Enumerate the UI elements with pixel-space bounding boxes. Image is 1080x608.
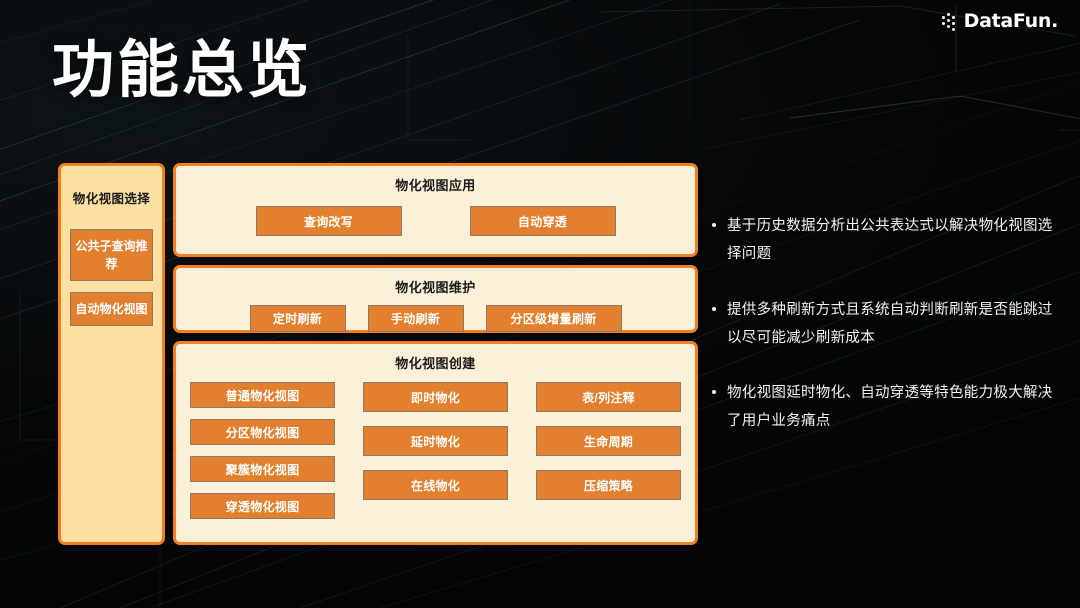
button-online-materialization[interactable]: 在线物化 — [363, 470, 508, 500]
slide-canvas: DataFun. 功能总览 物化视图选择 公共子查询推荐 自动物化视图 物化视图… — [0, 0, 1080, 608]
bullet-dot-icon — [712, 223, 716, 227]
button-auto-passthrough[interactable]: 自动穿透 — [470, 206, 616, 236]
bullet-text: 提供多种刷新方式且系统自动判断刷新是否能跳过以尽可能减少刷新成本 — [727, 296, 1060, 353]
button-compression-strategy[interactable]: 压缩策略 — [536, 470, 681, 500]
key-points-list: 基于历史数据分析出公共表达式以解决物化视图选择问题 提供多种刷新方式且系统自动判… — [712, 212, 1060, 436]
button-query-rewrite[interactable]: 查询改写 — [256, 206, 402, 236]
list-item: 基于历史数据分析出公共表达式以解决物化视图选择问题 — [712, 212, 1060, 269]
bullet-text: 物化视图延时物化、自动穿透等特色能力极大解决了用户业务痛点 — [727, 379, 1060, 436]
panel-materialized-view-creation: 物化视图创建 普通物化视图 分区物化视图 聚簇物化视图 穿透物化视图 即时物化 … — [173, 341, 698, 545]
list-item: 物化视图延时物化、自动穿透等特色能力极大解决了用户业务痛点 — [712, 379, 1060, 436]
button-table-column-comment[interactable]: 表/列注释 — [536, 382, 681, 412]
creation-column-metadata-options: 表/列注释 生命周期 压缩策略 — [536, 382, 681, 519]
button-passthrough-mv[interactable]: 穿透物化视图 — [190, 493, 335, 519]
maintenance-button-row: 定时刷新 手动刷新 分区级增量刷新 — [176, 305, 695, 332]
bullet-dot-icon — [712, 390, 716, 394]
feature-overview-diagram: 物化视图选择 公共子查询推荐 自动物化视图 物化视图应用 查询改写 自动穿透 物… — [58, 163, 698, 545]
bullet-dot-icon — [712, 307, 716, 311]
panel-title-creation: 物化视图创建 — [176, 344, 695, 372]
button-normal-mv[interactable]: 普通物化视图 — [190, 382, 335, 408]
datafun-dots-logo-icon — [942, 13, 959, 30]
button-partitioned-mv[interactable]: 分区物化视图 — [190, 419, 335, 445]
button-manual-refresh[interactable]: 手动刷新 — [368, 305, 464, 332]
chip-common-subquery-recommendation[interactable]: 公共子查询推荐 — [70, 229, 153, 281]
brand-logo: DataFun. — [942, 10, 1058, 32]
button-instant-materialization[interactable]: 即时物化 — [363, 382, 508, 412]
panel-title-maintenance: 物化视图维护 — [176, 268, 695, 296]
bullet-text: 基于历史数据分析出公共表达式以解决物化视图选择问题 — [727, 212, 1060, 269]
button-deferred-materialization[interactable]: 延时物化 — [363, 426, 508, 456]
creation-columns: 普通物化视图 分区物化视图 聚簇物化视图 穿透物化视图 即时物化 延时物化 在线… — [176, 372, 695, 519]
creation-column-materialization-modes: 即时物化 延时物化 在线物化 — [363, 382, 508, 519]
application-button-row: 查询改写 自动穿透 — [176, 206, 695, 236]
panel-materialized-view-application: 物化视图应用 查询改写 自动穿透 — [173, 163, 698, 257]
button-partition-incremental-refresh[interactable]: 分区级增量刷新 — [486, 305, 622, 332]
panel-materialized-view-maintenance: 物化视图维护 定时刷新 手动刷新 分区级增量刷新 — [173, 265, 698, 333]
creation-column-view-types: 普通物化视图 分区物化视图 聚簇物化视图 穿透物化视图 — [190, 382, 335, 519]
panel-materialized-view-selection: 物化视图选择 公共子查询推荐 自动物化视图 — [58, 163, 165, 545]
panel-title-application: 物化视图应用 — [176, 166, 695, 194]
button-clustered-mv[interactable]: 聚簇物化视图 — [190, 456, 335, 482]
panel-title-selection: 物化视图选择 — [73, 188, 150, 207]
list-item: 提供多种刷新方式且系统自动判断刷新是否能跳过以尽可能减少刷新成本 — [712, 296, 1060, 353]
page-title: 功能总览 — [52, 38, 312, 103]
brand-name: DataFun. — [964, 10, 1058, 32]
button-lifecycle[interactable]: 生命周期 — [536, 426, 681, 456]
button-scheduled-refresh[interactable]: 定时刷新 — [250, 305, 346, 332]
chip-auto-materialized-view[interactable]: 自动物化视图 — [70, 292, 153, 326]
panel-stack: 物化视图应用 查询改写 自动穿透 物化视图维护 定时刷新 手动刷新 分区级增量刷… — [173, 163, 698, 545]
